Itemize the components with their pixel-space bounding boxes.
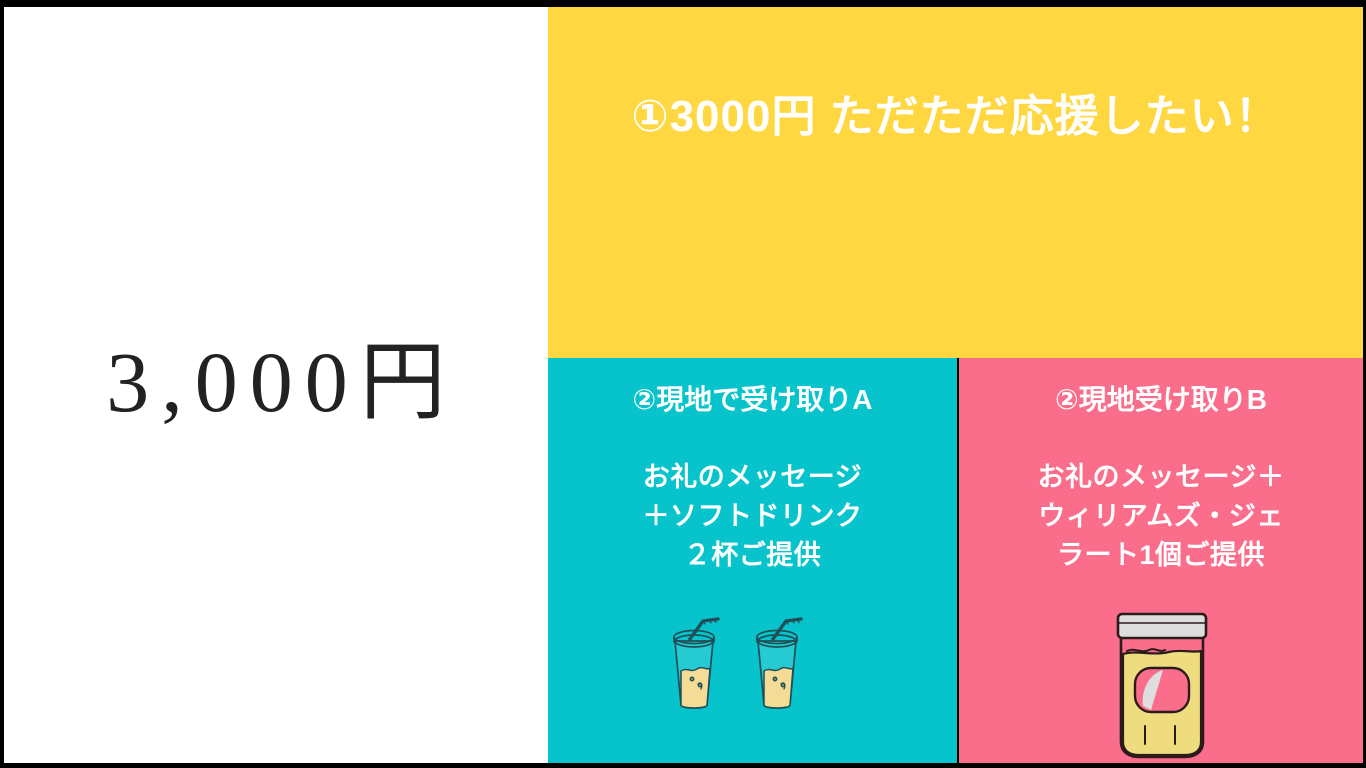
reward-b-heading: ②現地受け取りB — [959, 383, 1363, 417]
reward-panel-a: ②現地で受け取りA お礼のメッセージ ＋ソフトドリンク ２杯ご提供 — [548, 358, 957, 763]
reward-a-body-line-1: お礼のメッセージ — [548, 458, 957, 497]
hero-panel: ①3000円 ただただ応援したい！ — [548, 7, 1363, 358]
two-soft-drink-cups-icon — [657, 613, 817, 713]
price-amount: 3,000円 — [94, 339, 458, 425]
reward-tier-slide: 3,000円 ①3000円 ただただ応援したい！ — [0, 0, 1366, 768]
reward-a-body: お礼のメッセージ ＋ソフトドリンク ２杯ご提供 — [548, 458, 957, 575]
reward-a-body-line-3: ２杯ご提供 — [548, 536, 957, 575]
reward-a-body-line-2: ＋ソフトドリンク — [548, 497, 957, 536]
reward-b-body-line-2: ウィリアムズ・ジェ — [959, 497, 1363, 536]
frame-edge-left — [0, 0, 4, 768]
reward-b-body-line-1: お礼のメッセージ＋ — [959, 458, 1363, 497]
frame-edge-bottom — [0, 763, 1366, 768]
price-panel: 3,000円 — [4, 7, 548, 763]
hero-title: ①3000円 ただただ応援したい！ — [548, 89, 1363, 144]
frame-edge-top — [0, 0, 1366, 7]
reward-a-heading: ②現地で受け取りA — [548, 383, 957, 417]
reward-panel-b: ②現地受け取りB お礼のメッセージ＋ ウィリアムズ・ジェ ラート1個ご提供 — [959, 358, 1363, 763]
gelato-jar-icon — [1107, 606, 1217, 761]
reward-b-body-line-3: ラート1個ご提供 — [959, 536, 1363, 575]
reward-b-body: お礼のメッセージ＋ ウィリアムズ・ジェ ラート1個ご提供 — [959, 458, 1363, 575]
